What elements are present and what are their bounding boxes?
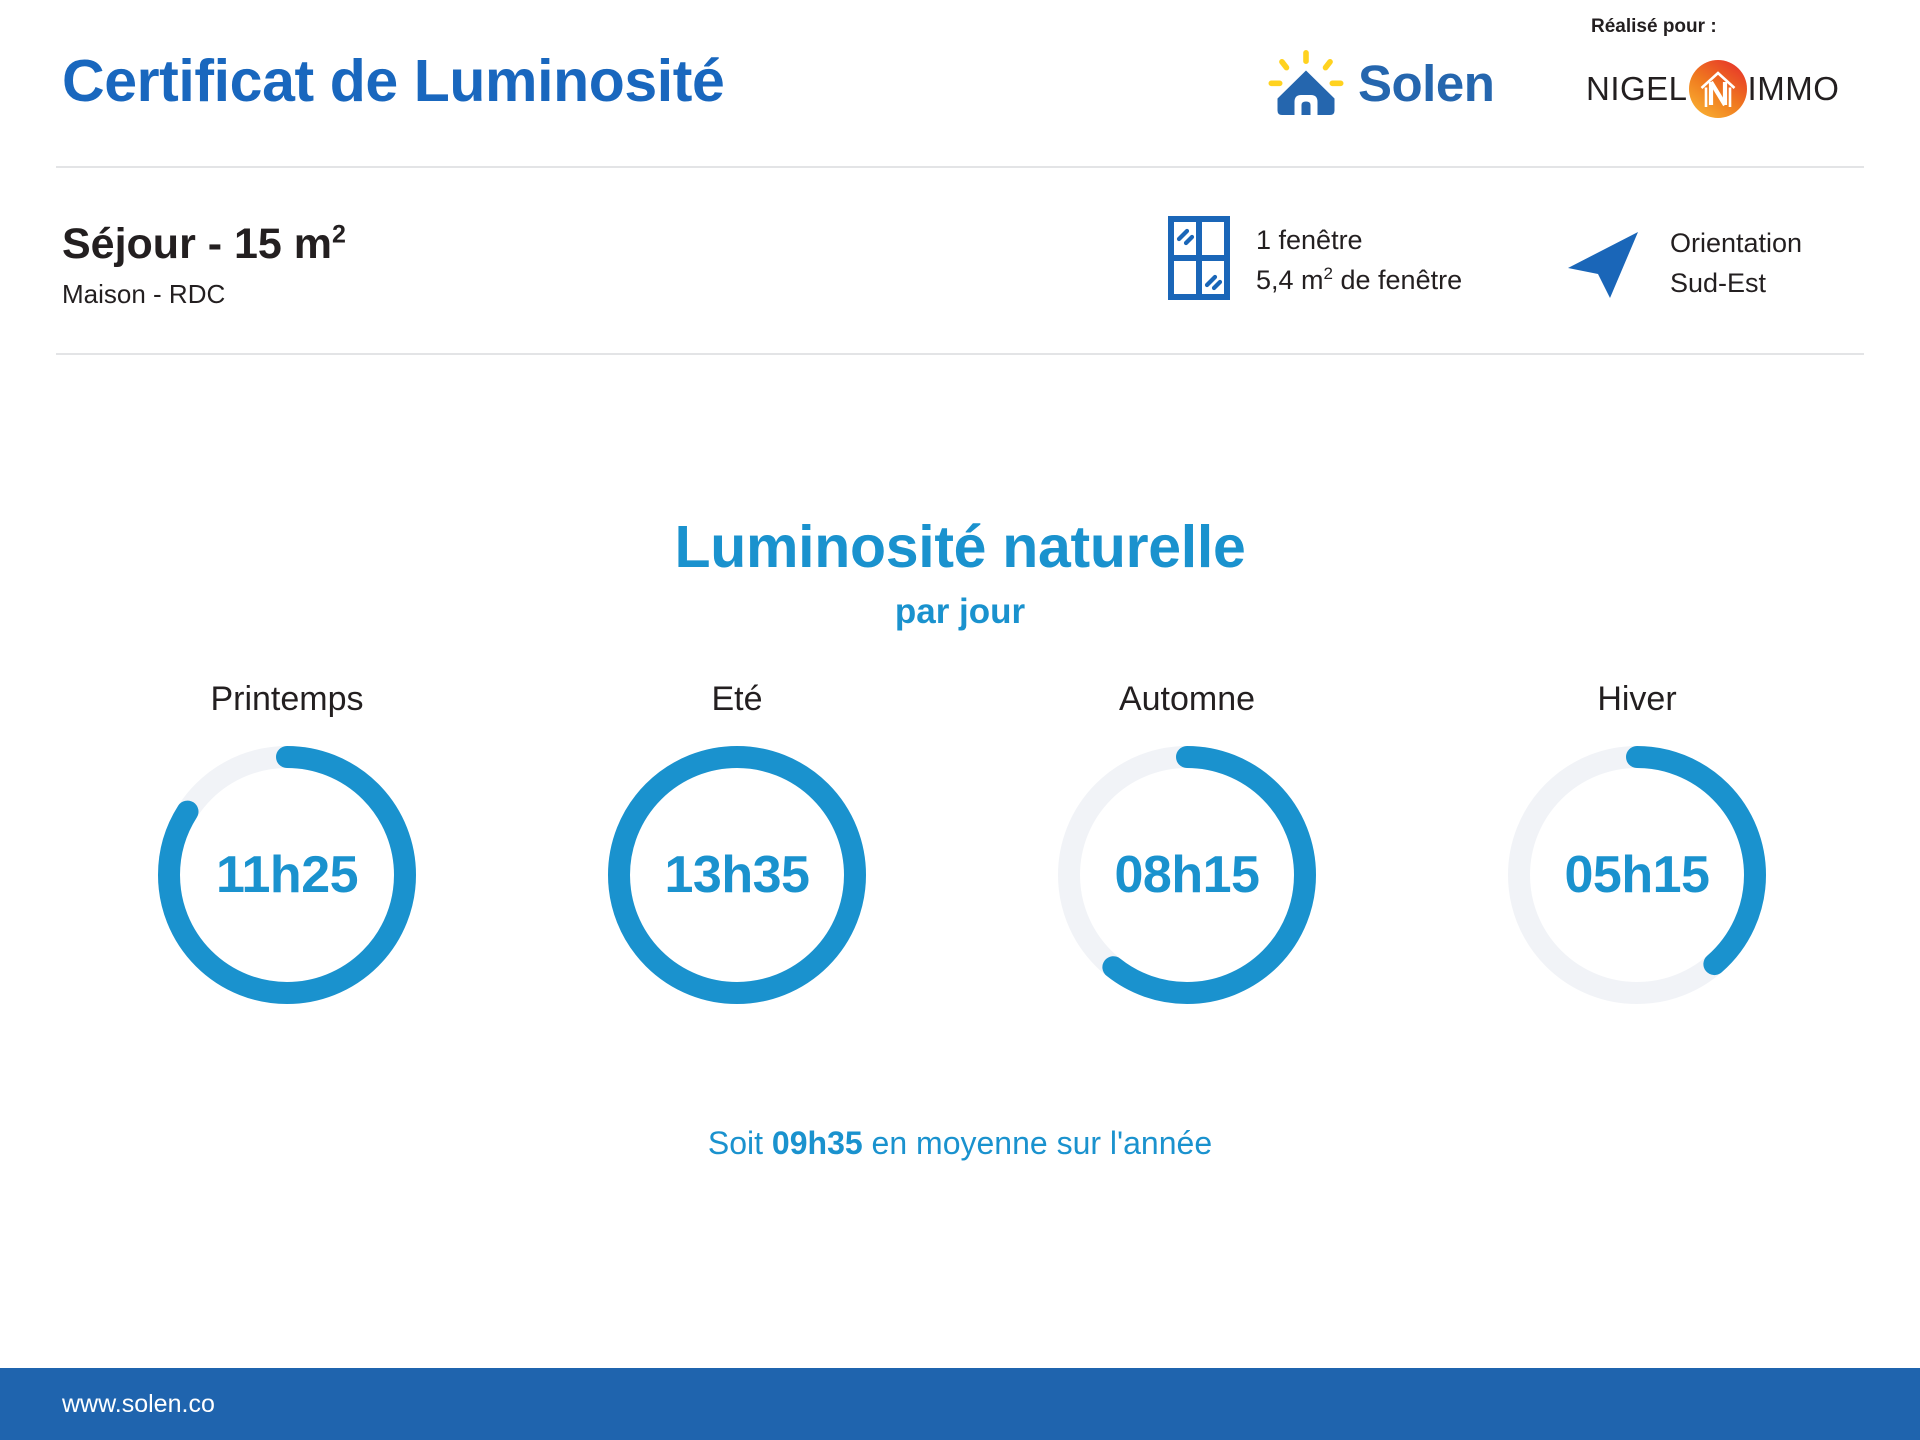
divider-top [56, 166, 1864, 168]
annual-average-note: Soit 09h35 en moyenne sur l'année [0, 1125, 1920, 1162]
average-suffix: en moyenne sur l'année [863, 1125, 1212, 1161]
gauge-label: Hiver [1597, 680, 1676, 719]
donut-chart: 08h15 [1051, 739, 1323, 1011]
certificate-page: Certificat de Luminosité Réalisé pour : [0, 0, 1920, 1440]
gauge-label: Eté [711, 680, 762, 719]
sun-house-icon [1268, 50, 1344, 116]
gauge-hiver: Hiver 05h15 [1412, 680, 1862, 1011]
donut-chart: 05h15 [1501, 739, 1773, 1011]
compass-arrow-icon [1562, 220, 1644, 307]
house-n-badge-icon [1689, 60, 1747, 118]
gauge-ete: Eté 13h35 [512, 680, 962, 1011]
average-value: 09h35 [772, 1125, 863, 1161]
room-info: Séjour - 15 m2 Maison - RDC [62, 222, 346, 310]
gauge-label: Printemps [210, 680, 363, 719]
orientation-summary: Orientation Sud-Est [1562, 220, 1802, 307]
solen-logo: Solen [1268, 50, 1494, 116]
orientation-label: Orientation [1670, 228, 1802, 258]
donut-chart: 13h35 [601, 739, 873, 1011]
window-summary: 1 fenêtre 5,4 m2 de fenêtre [1168, 216, 1462, 305]
gauge-value: 08h15 [1051, 739, 1323, 1011]
gauge-label: Automne [1119, 680, 1255, 719]
solen-wordmark: Solen [1358, 58, 1494, 109]
orientation-text: Orientation Sud-Est [1670, 224, 1802, 302]
divider-middle [56, 353, 1864, 355]
room-title-exponent: 2 [332, 221, 346, 249]
average-prefix: Soit [708, 1125, 772, 1161]
orientation-value: Sud-Est [1670, 268, 1766, 298]
section-subtitle: par jour [0, 592, 1920, 632]
section-title: Luminosité naturelle [0, 513, 1920, 581]
realised-for-label: Réalisé pour : [1591, 16, 1717, 38]
room-subtitle: Maison - RDC [62, 279, 346, 310]
gauge-printemps: Printemps 11h25 [62, 680, 512, 1011]
donut-chart: 11h25 [151, 739, 423, 1011]
client-logo-text-right: IMMO [1748, 70, 1840, 108]
room-title-text: Séjour - 15 m [62, 220, 332, 268]
window-area-pre: 5,4 m [1256, 265, 1324, 295]
seasonal-gauges: Printemps 11h25 Eté 13h35 Automne [62, 680, 1862, 1011]
gauge-automne: Automne 08h15 [962, 680, 1412, 1011]
gauge-value: 11h25 [151, 739, 423, 1011]
room-title: Séjour - 15 m2 [62, 222, 346, 267]
window-icon [1168, 216, 1230, 305]
footer-website-url[interactable]: www.solen.co [62, 1390, 215, 1419]
client-logo-text-left: NIGEL [1586, 70, 1688, 108]
gauge-value: 13h35 [601, 739, 873, 1011]
window-count: 1 fenêtre [1256, 225, 1363, 255]
window-area-post: de fenêtre [1333, 265, 1462, 295]
gauge-value: 05h15 [1501, 739, 1773, 1011]
page-footer: www.solen.co [0, 1368, 1920, 1440]
window-area-exponent: 2 [1324, 264, 1333, 283]
page-header: Certificat de Luminosité Réalisé pour : [0, 0, 1920, 168]
client-logo: NIGEL [1586, 60, 1839, 118]
page-title: Certificat de Luminosité [62, 47, 724, 115]
window-summary-text: 1 fenêtre 5,4 m2 de fenêtre [1256, 221, 1462, 299]
